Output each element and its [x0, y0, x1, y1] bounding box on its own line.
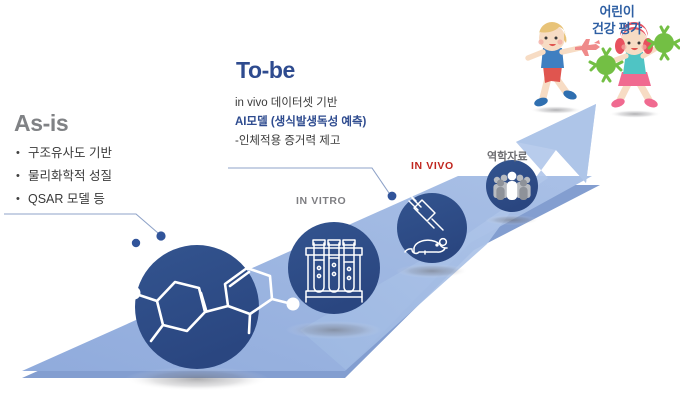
shadow-girl: [609, 110, 661, 118]
stage-caption-in-vivo: IN VIVO: [411, 160, 454, 172]
shadow-invivo: [396, 264, 468, 278]
list-item: • QSAR 모델 등: [16, 190, 216, 208]
asis-title: As-is: [14, 110, 68, 137]
tobe-line: -인체적용 증거력 제고: [235, 132, 465, 151]
stage-caption-epidemiology: 역학자료: [487, 148, 527, 164]
tobe-line: in vivo 데이터셋 기반: [235, 94, 465, 113]
kids-title-line1: 어린이: [562, 3, 672, 20]
list-item: • 구조유사도 기반: [16, 144, 216, 162]
bullet-glyph: •: [16, 190, 28, 208]
kids-title-line2: 건강 평가: [562, 20, 672, 37]
asis-item-label: 구조유사도 기반: [28, 144, 112, 162]
bullet-glyph: •: [16, 167, 28, 185]
asis-bullet-list: • 구조유사도 기반 • 물리화학적 성질 • QSAR 모델 등: [16, 144, 216, 213]
infographic-canvas: As-is • 구조유사도 기반 • 물리화학적 성질 • QSAR 모델 등 …: [0, 0, 680, 404]
tobe-line: AI모델 (생식발생독성 예측): [235, 113, 465, 132]
shadow-molecule: [125, 367, 269, 391]
list-item: • 물리화학적 성질: [16, 167, 216, 185]
asis-item-label: 물리화학적 성질: [28, 167, 112, 185]
asis-item-label: QSAR 모델 등: [28, 190, 105, 208]
kids-title: 어린이 건강 평가: [562, 3, 672, 37]
shadow-invitro: [286, 321, 382, 339]
stage-caption-in-vitro: IN VITRO: [296, 195, 346, 207]
tobe-description: in vivo 데이터셋 기반 AI모델 (생식발생독성 예측) -인체적용 증…: [235, 94, 465, 151]
bullet-glyph: •: [16, 144, 28, 162]
tobe-title: To-be: [236, 57, 295, 84]
shadow-epi: [485, 215, 539, 225]
shadow-boy: [530, 106, 582, 114]
